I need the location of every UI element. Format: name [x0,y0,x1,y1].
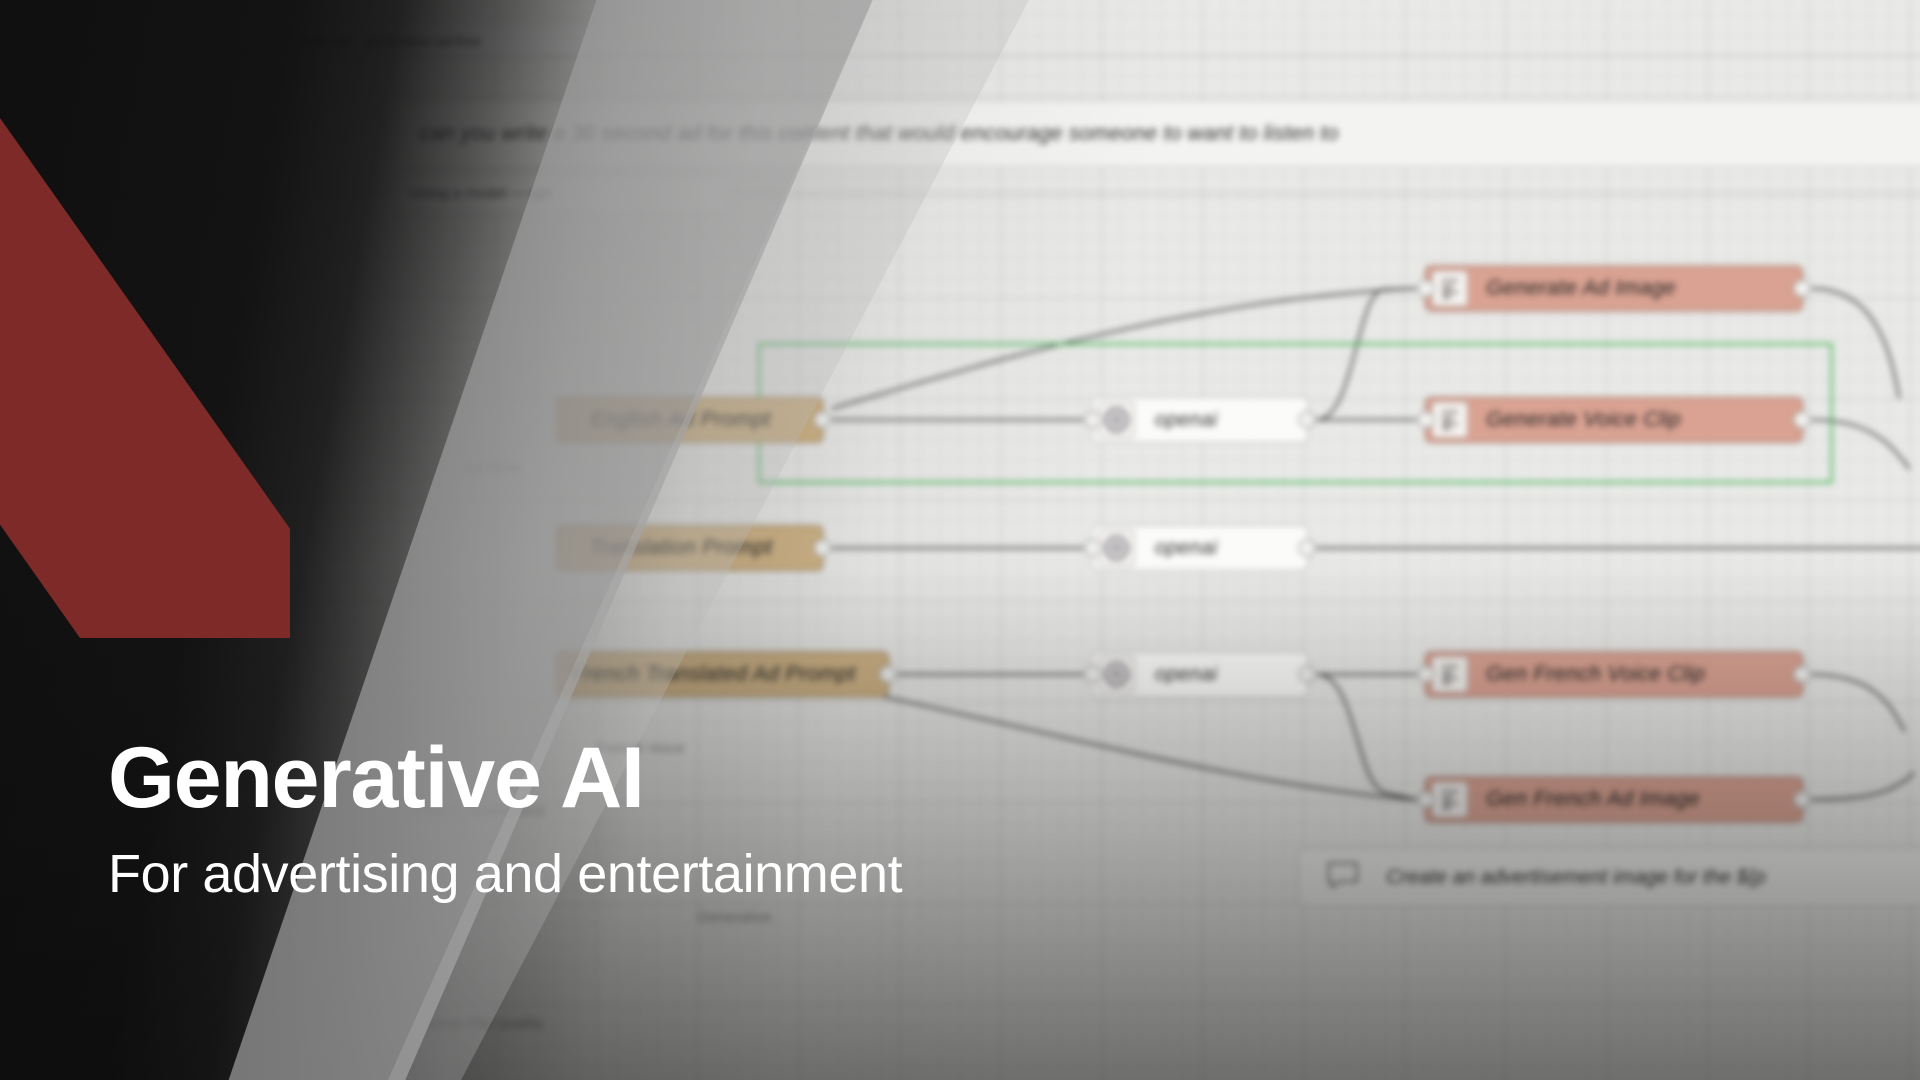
page-title: Generative AI [108,735,902,821]
page-subtitle: For advertising and entertainment [108,843,902,905]
slide-canvas: node-red : generative-ad-flow can you wr… [0,0,1920,1080]
headline-block: Generative AI For advertising and entert… [108,735,902,905]
